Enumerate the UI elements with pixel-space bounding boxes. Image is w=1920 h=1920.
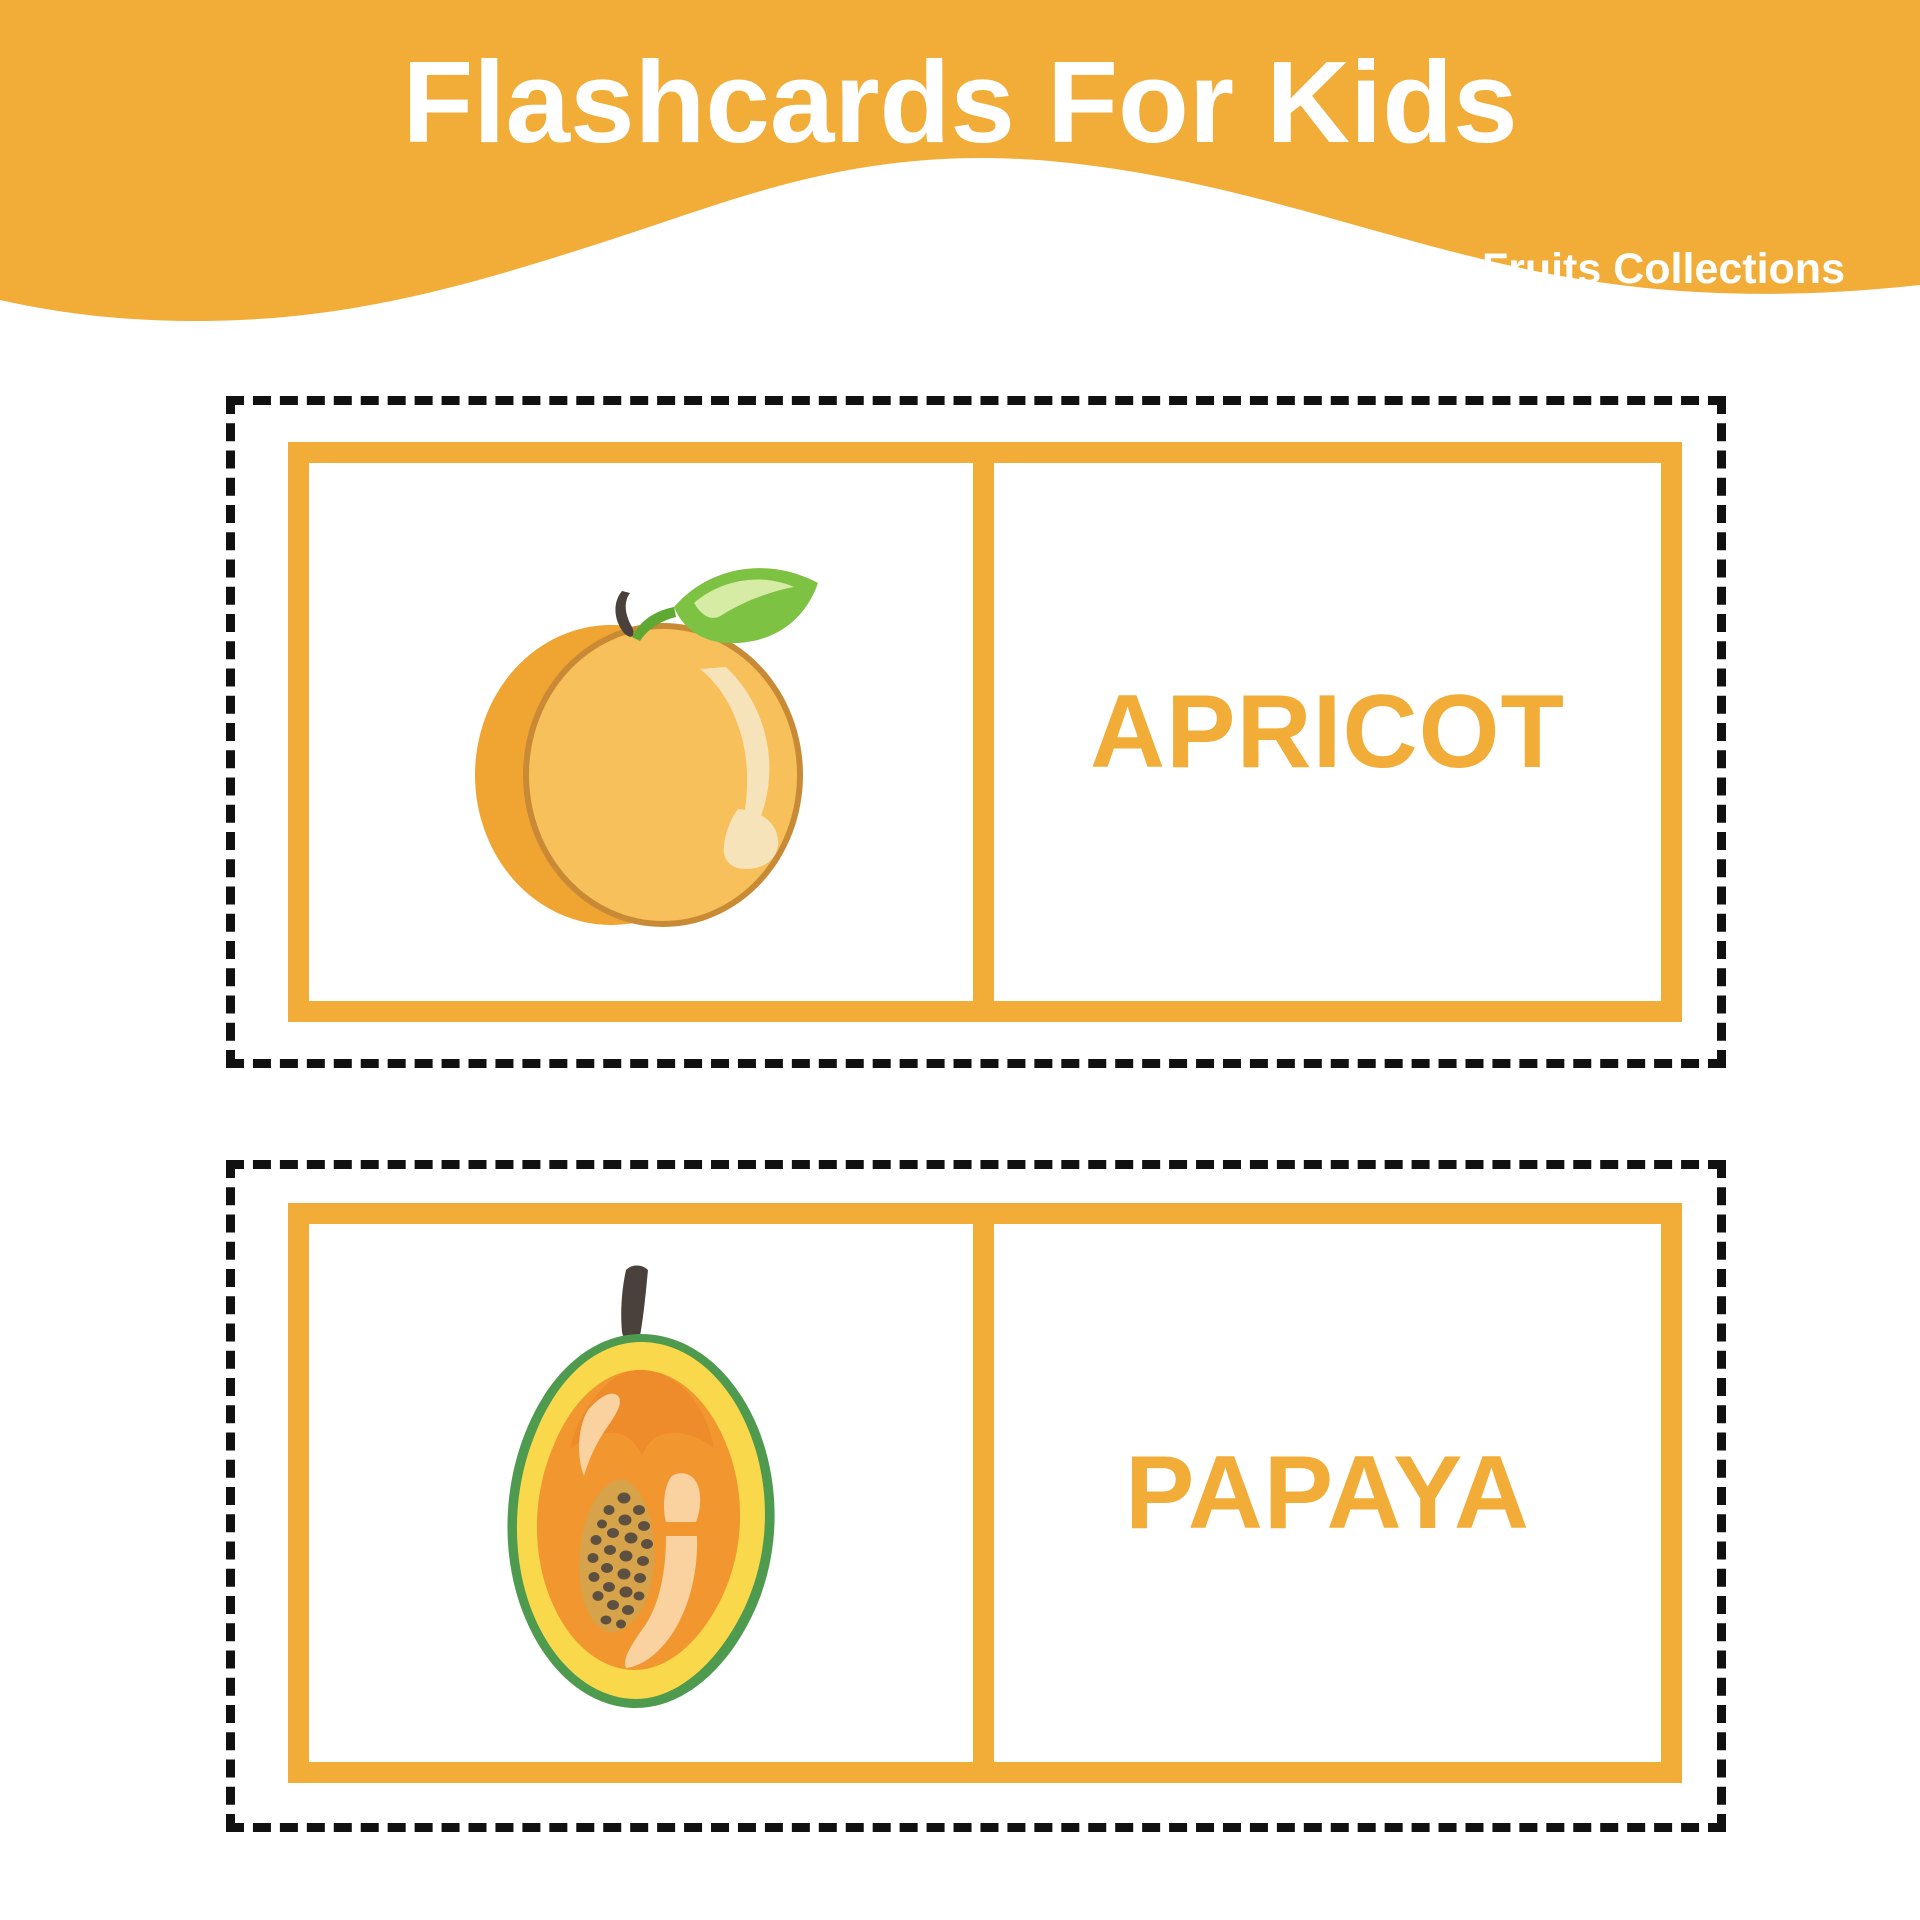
flashcard-label-papaya: PAPAYA [1125, 1438, 1530, 1548]
flashcard-papaya-label-pane: PAPAYA [994, 1224, 1661, 1762]
apricot-illustration [426, 517, 856, 947]
papaya-half-illustration [476, 1258, 806, 1728]
flashcard-apricot-label-pane: APRICOT [994, 463, 1661, 1001]
flashcard-worksheet: Flashcards For Kids Fruits Collections [0, 0, 1920, 1920]
flashcard-papaya-image-pane [309, 1224, 994, 1762]
page-title: Flashcards For Kids [0, 38, 1920, 166]
flashcard-apricot-image-pane [309, 463, 994, 1001]
header-banner: Flashcards For Kids Fruits Collections [0, 0, 1920, 360]
header-subtitle: Fruits Collections [1482, 243, 1845, 295]
flashcard-papaya[interactable]: PAPAYA [288, 1203, 1682, 1783]
flashcard-apricot[interactable]: APRICOT [288, 442, 1682, 1022]
flashcard-label-apricot: APRICOT [1090, 677, 1565, 787]
